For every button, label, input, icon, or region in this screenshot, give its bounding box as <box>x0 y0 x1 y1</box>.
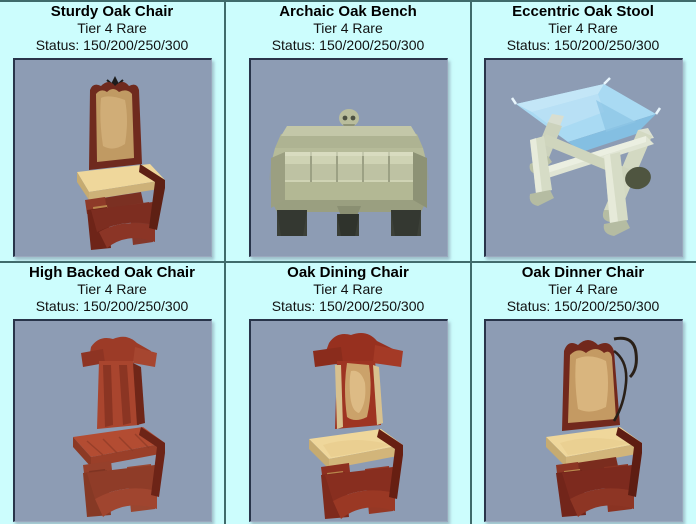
item-status: Status: 150/200/250/300 <box>507 37 660 54</box>
item-grid: Sturdy Oak Chair Tier 4 Rare Status: 150… <box>0 0 696 524</box>
item-tier: Tier 4 Rare <box>77 20 147 37</box>
item-title: Oak Dinner Chair <box>522 264 645 281</box>
item-status: Status: 150/200/250/300 <box>36 298 189 315</box>
item-title: Sturdy Oak Chair <box>51 3 174 20</box>
oak-dinner-chair-render <box>486 321 682 521</box>
item-title: Oak Dining Chair <box>287 264 409 281</box>
oak-dining-chair-render <box>251 321 447 521</box>
item-tier: Tier 4 Rare <box>313 20 383 37</box>
item-title: Archaic Oak Bench <box>279 3 417 20</box>
item-tier: Tier 4 Rare <box>548 281 618 298</box>
item-status: Status: 150/200/250/300 <box>272 37 425 54</box>
item-thumbnail[interactable] <box>249 319 448 522</box>
item-card-archaic-oak-bench[interactable]: Archaic Oak Bench Tier 4 Rare Status: 15… <box>226 2 472 261</box>
item-thumbnail[interactable] <box>13 58 212 257</box>
item-thumbnail[interactable] <box>249 58 448 257</box>
item-card-eccentric-oak-stool[interactable]: Eccentric Oak Stool Tier 4 Rare Status: … <box>472 2 694 261</box>
item-card-sturdy-oak-chair[interactable]: Sturdy Oak Chair Tier 4 Rare Status: 150… <box>0 2 226 261</box>
item-status: Status: 150/200/250/300 <box>272 298 425 315</box>
item-thumbnail[interactable] <box>484 58 683 257</box>
item-tier: Tier 4 Rare <box>77 281 147 298</box>
item-card-oak-dining-chair[interactable]: Oak Dining Chair Tier 4 Rare Status: 150… <box>226 263 472 524</box>
item-thumbnail[interactable] <box>484 319 683 522</box>
item-card-oak-dinner-chair[interactable]: Oak Dinner Chair Tier 4 Rare Status: 150… <box>472 263 694 524</box>
item-status: Status: 150/200/250/300 <box>36 37 189 54</box>
item-card-high-backed-oak-chair[interactable]: High Backed Oak Chair Tier 4 Rare Status… <box>0 263 226 524</box>
item-thumbnail[interactable] <box>13 319 212 522</box>
sturdy-oak-chair-render <box>15 60 211 256</box>
item-tier: Tier 4 Rare <box>313 281 383 298</box>
item-title: Eccentric Oak Stool <box>512 3 654 20</box>
item-grid-row: High Backed Oak Chair Tier 4 Rare Status… <box>0 263 696 524</box>
eccentric-oak-stool-render <box>486 60 682 256</box>
item-tier: Tier 4 Rare <box>548 20 618 37</box>
item-grid-row: Sturdy Oak Chair Tier 4 Rare Status: 150… <box>0 2 696 263</box>
high-backed-oak-chair-render <box>15 321 211 521</box>
archaic-oak-bench-render <box>251 60 447 256</box>
item-title: High Backed Oak Chair <box>29 264 195 281</box>
item-status: Status: 150/200/250/300 <box>507 298 660 315</box>
